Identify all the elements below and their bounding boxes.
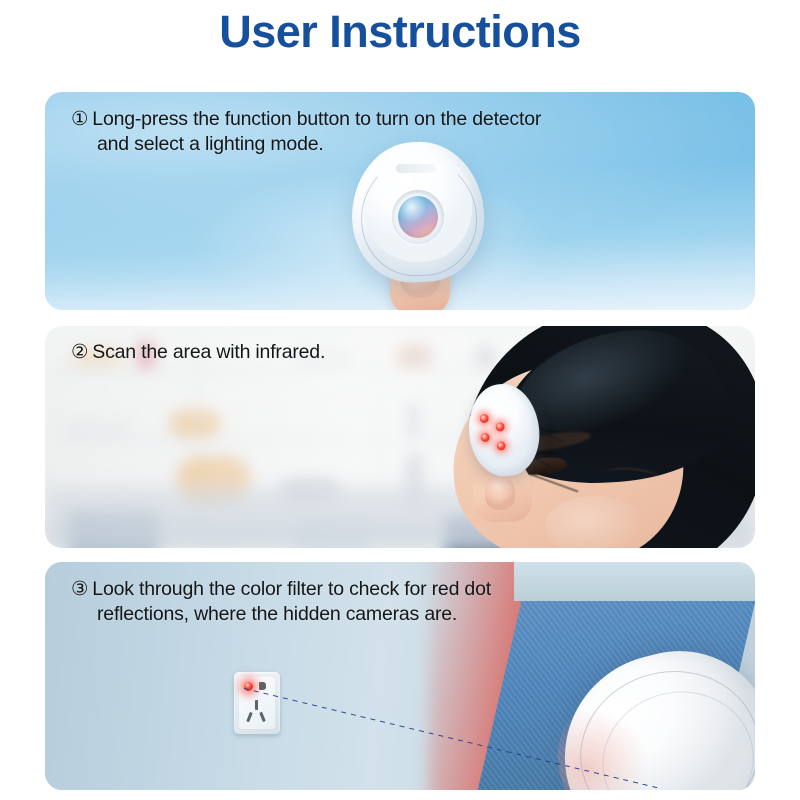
infrared-led	[479, 414, 489, 424]
detector-device-held-to-eye	[469, 384, 543, 512]
step-1-line-2: and select a lighting mode.	[71, 132, 735, 157]
step-3-caption: ③Look through the color filter to check …	[71, 577, 735, 627]
instruction-step-2: ②Scan the area with infrared.	[45, 326, 755, 548]
wall-outlet	[234, 672, 280, 734]
infrared-led	[480, 433, 490, 443]
brand-mark	[396, 164, 436, 173]
instruction-page: User Instructions ①Long-press the functi…	[0, 0, 800, 800]
outlet-slot	[255, 700, 258, 710]
step-1-line-1: Long-press the function button to turn o…	[92, 108, 541, 130]
step-3-line-1: Look through the color filter to check f…	[92, 578, 491, 600]
infrared-led	[496, 441, 506, 451]
step-3-line-2: reflections, where the hidden cameras ar…	[71, 602, 735, 627]
step-1-caption: ①Long-press the function button to turn …	[71, 107, 735, 157]
detector-device-front-view	[352, 142, 484, 282]
color-filter-lens	[398, 196, 438, 238]
step-3-number: ③	[71, 577, 88, 602]
cheek-highlight	[545, 496, 645, 548]
instruction-step-1: ①Long-press the function button to turn …	[45, 92, 755, 310]
step-2-caption: ②Scan the area with infrared.	[71, 340, 735, 365]
step-2-number: ②	[71, 340, 88, 365]
instruction-step-3: ③Look through the color filter to check …	[45, 562, 755, 790]
outlet-slot	[259, 682, 266, 690]
step-2-line-1: Scan the area with infrared.	[92, 341, 325, 363]
step-1-number: ①	[71, 107, 88, 132]
device-disc	[464, 381, 543, 480]
page-title: User Instructions	[0, 6, 800, 58]
infrared-led	[495, 422, 505, 432]
